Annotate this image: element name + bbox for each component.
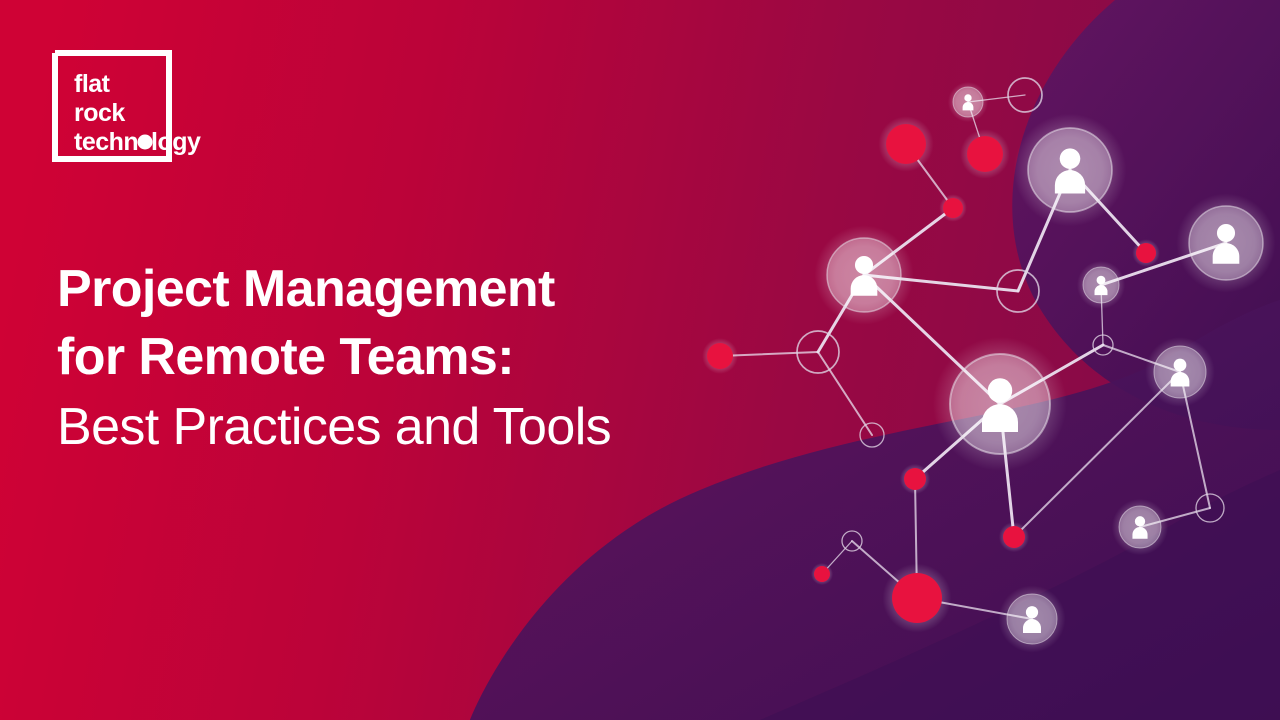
page-title: Project Management for Remote Teams: Bes… xyxy=(57,263,757,453)
svg-text:techn: techn xyxy=(74,128,138,156)
title-line-3: Best Practices and Tools xyxy=(57,401,757,453)
svg-text:flat: flat xyxy=(74,70,111,98)
logo-wordmark: flat rock techn logy xyxy=(74,70,201,156)
svg-text:rock: rock xyxy=(74,99,125,127)
title-line-1: Project Management xyxy=(57,263,757,315)
banner-root: flat rock techn logy Project Management … xyxy=(0,0,1280,720)
title-line-2: for Remote Teams: xyxy=(57,331,757,383)
logo[interactable]: flat rock techn logy xyxy=(52,50,227,162)
logo-dot-icon xyxy=(138,135,153,150)
svg-text:logy: logy xyxy=(151,128,201,156)
